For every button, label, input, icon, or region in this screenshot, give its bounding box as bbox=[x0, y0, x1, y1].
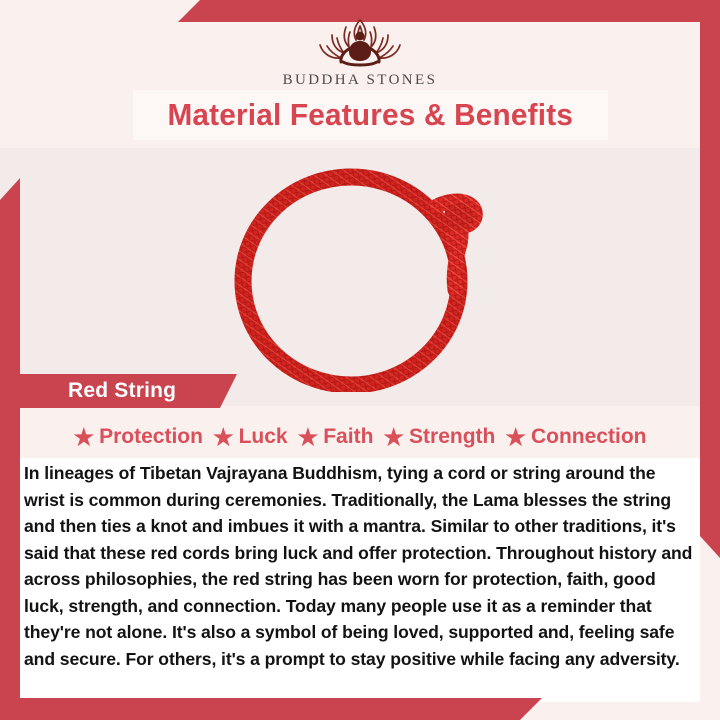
infographic-page: BUDDHA STONES Material Features & Benefi… bbox=[0, 0, 720, 720]
brand-lockup: BUDDHA STONES bbox=[0, 14, 720, 89]
feature-item-strength: ★ Strength bbox=[379, 425, 499, 449]
product-name-banner: Red String bbox=[20, 374, 237, 408]
feature-item-protection: ★ Protection bbox=[70, 425, 207, 449]
star-icon: ★ bbox=[383, 426, 404, 449]
feature-item-connection: ★ Connection bbox=[501, 425, 650, 449]
feature-item-faith: ★ Faith bbox=[294, 425, 378, 449]
lotus-meditation-icon bbox=[308, 14, 412, 70]
feature-list: ★ Protection ★ Luck ★ Faith ★ Strength ★… bbox=[20, 418, 700, 456]
star-icon: ★ bbox=[505, 426, 526, 449]
red-braided-cord-bracelet-icon bbox=[231, 164, 489, 392]
feature-item-luck: ★ Luck bbox=[209, 425, 292, 449]
product-image bbox=[0, 155, 720, 400]
description-text: In lineages of Tibetan Vajrayana Buddhis… bbox=[24, 460, 696, 672]
feature-label: Faith bbox=[323, 425, 373, 449]
feature-label: Strength bbox=[409, 425, 495, 449]
brand-name: BUDDHA STONES bbox=[0, 72, 720, 89]
page-title: Material Features & Benefits bbox=[168, 97, 574, 133]
star-icon: ★ bbox=[298, 426, 319, 449]
feature-label: Luck bbox=[239, 425, 288, 449]
headline-band: Material Features & Benefits bbox=[133, 90, 608, 140]
feature-label: Connection bbox=[531, 425, 647, 449]
star-icon: ★ bbox=[74, 426, 95, 449]
product-name-label: Red String bbox=[68, 379, 176, 403]
star-icon: ★ bbox=[213, 426, 234, 449]
feature-label: Protection bbox=[99, 425, 203, 449]
